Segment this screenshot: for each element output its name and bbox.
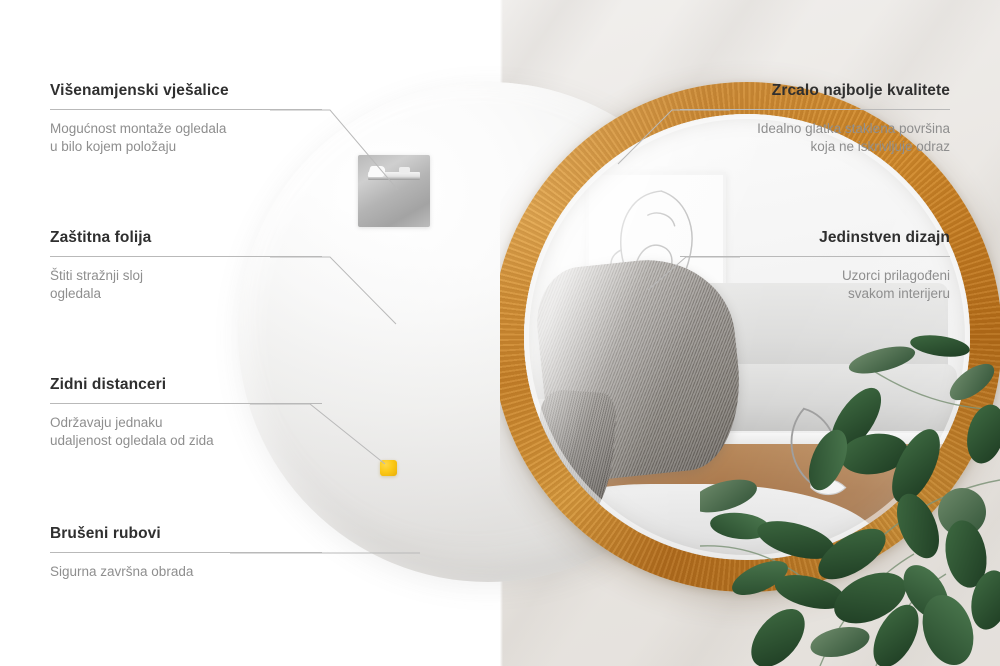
callout-left-4: Brušeni rubovi Sigurna završna obrada bbox=[50, 525, 322, 581]
callout-title: Zaštitna folija bbox=[50, 229, 322, 247]
callout-right-2: Jedinstven dizajn Uzorci prilagođeni sva… bbox=[680, 229, 950, 303]
round-mirror bbox=[500, 82, 1000, 592]
callout-title: Brušeni rubovi bbox=[50, 525, 322, 543]
hanger-notch bbox=[399, 167, 410, 173]
callout-title: Zidni distanceri bbox=[50, 376, 322, 394]
floor-lamp-icon bbox=[783, 395, 899, 520]
callout-left-2: Zaštitna folija Štiti stražnji sloj ogle… bbox=[50, 229, 322, 303]
keyhole-icon bbox=[367, 166, 386, 177]
callout-description: Održavaju jednaku udaljenost ogledala od… bbox=[50, 414, 322, 450]
reflection-floor-lamp bbox=[783, 395, 899, 520]
callout-title: Višenamjenski vješalice bbox=[50, 82, 322, 100]
callout-rule bbox=[680, 256, 950, 257]
callout-title: Zrcalo najbolje kvalitete bbox=[680, 82, 950, 100]
callout-description: Sigurna završna obrada bbox=[50, 563, 322, 581]
mirror-glass bbox=[524, 114, 970, 560]
callout-description: Štiti stražnji sloj ogledala bbox=[50, 267, 322, 303]
hanger-plate-icon bbox=[358, 155, 430, 227]
callout-description: Mogućnost montaže ogledala u bilo kojem … bbox=[50, 120, 322, 156]
callout-rule bbox=[50, 109, 322, 110]
infographic-canvas: Višenamjenski vješalice Mogućnost montaž… bbox=[0, 0, 1000, 666]
callout-rule bbox=[680, 109, 950, 110]
callout-rule bbox=[50, 256, 322, 257]
callout-title: Jedinstven dizajn bbox=[680, 229, 950, 247]
callout-right-1: Zrcalo najbolje kvalitete Idealno glatka… bbox=[680, 82, 950, 156]
callout-rule bbox=[50, 403, 322, 404]
callout-description: Uzorci prilagođeni svakom interijeru bbox=[680, 267, 950, 303]
wall-spacer-icon bbox=[380, 460, 397, 476]
callout-rule bbox=[50, 552, 322, 553]
callout-left-3: Zidni distanceri Održavaju jednaku udalj… bbox=[50, 376, 322, 450]
callout-left-1: Višenamjenski vješalice Mogućnost montaž… bbox=[50, 82, 322, 156]
callout-description: Idealno glatka staklena površina koja ne… bbox=[680, 120, 950, 156]
